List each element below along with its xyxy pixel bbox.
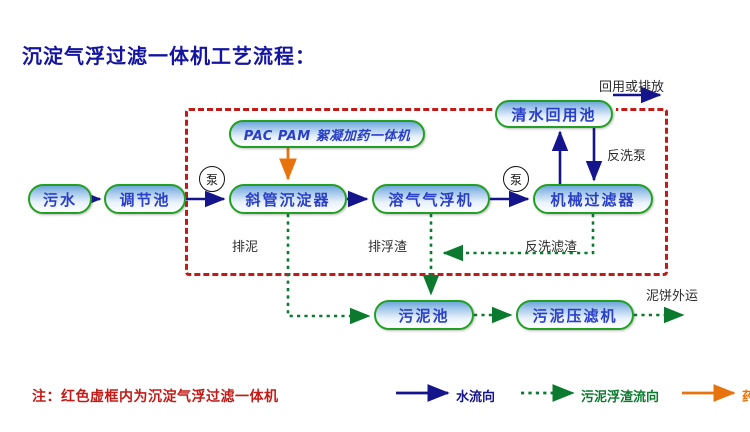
node-label: 斜管沉淀器 — [245, 189, 330, 210]
label-scum-discharge: 排浮渣 — [368, 236, 407, 255]
legend-label-sludge-flow: 污泥浮渣流向 — [581, 386, 659, 405]
node-settler[interactable]: 斜管沉淀器 — [229, 184, 347, 214]
node-chemdosing[interactable]: PAC PAM 絮凝加药一体机 — [229, 120, 425, 148]
node-label: 调节池 — [119, 189, 170, 210]
node-filterpress[interactable]: 污泥压滤机 — [516, 300, 634, 330]
legend-label-chem-flow: 药剂流向 — [742, 386, 750, 405]
node-wastewater[interactable]: 污水 — [28, 184, 92, 214]
node-label: 污泥池 — [398, 305, 449, 326]
label-cake-transport: 泥饼外运 — [646, 285, 698, 304]
flowchart-canvas: 沉淀气浮过滤一体机工艺流程： — [0, 0, 750, 432]
pump-label: 泵 — [206, 171, 218, 188]
label-discharge-reuse: 回用或排放 — [599, 76, 664, 95]
legend-label-water-flow: 水流向 — [456, 386, 495, 405]
node-clearwater[interactable]: 清水回用池 — [495, 100, 613, 128]
node-label: 污泥压滤机 — [532, 305, 617, 326]
footnote: 注：红色虚框内为沉淀气浮过滤一体机 — [32, 386, 279, 406]
label-sludge-discharge: 排泥 — [232, 236, 258, 255]
node-label: 污水 — [43, 189, 77, 210]
node-label: 机械过滤器 — [550, 189, 635, 210]
label-backwash-residue: 反洗滤渣 — [525, 236, 577, 255]
page-title: 沉淀气浮过滤一体机工艺流程： — [22, 40, 316, 69]
node-label: 溶气气浮机 — [388, 189, 473, 210]
node-sludgepit[interactable]: 污泥池 — [374, 300, 474, 330]
node-label: 清水回用池 — [511, 104, 596, 125]
node-equalization[interactable]: 调节池 — [104, 184, 186, 214]
pump-label: 泵 — [510, 171, 522, 188]
pump-symbol-2: 泵 — [503, 166, 529, 192]
node-filter[interactable]: 机械过滤器 — [533, 184, 653, 214]
node-label: PAC PAM 絮凝加药一体机 — [244, 125, 410, 144]
node-daf[interactable]: 溶气气浮机 — [372, 184, 490, 214]
pump-symbol-1: 泵 — [199, 166, 225, 192]
label-backwash-pump: 反洗泵 — [607, 145, 646, 164]
